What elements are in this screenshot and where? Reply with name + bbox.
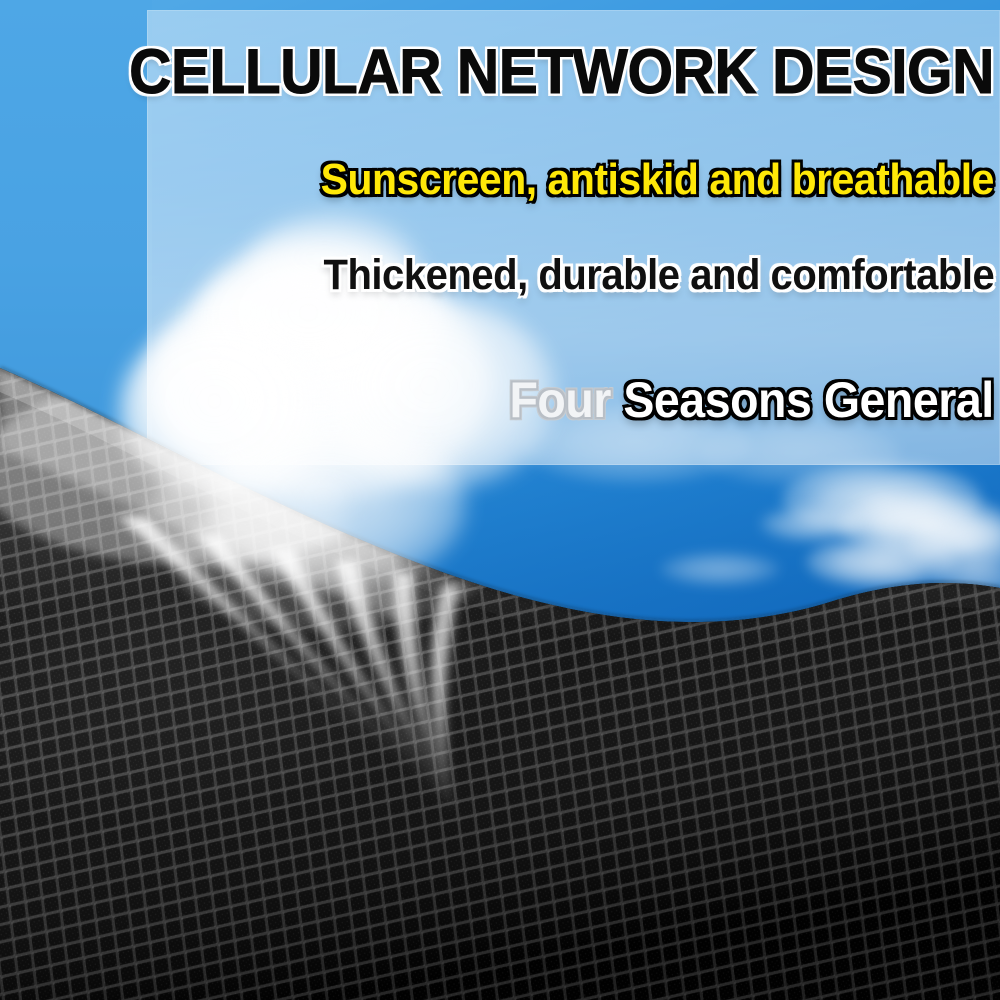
product-banner: CELLULAR NETWORK DESIGN Sunscreen, antis… — [0, 0, 1000, 1000]
subline-thickened-durable-comfortable: Thickened, durable and comfortable — [323, 251, 994, 300]
subline-sunscreen-antiskid-breathable: Sunscreen, antiskid and breathable — [321, 155, 994, 205]
subline-four-seasons-general: Four Seasons General — [510, 371, 994, 429]
subline-four-seasons-rest: Seasons General — [611, 372, 994, 428]
headline: CELLULAR NETWORK DESIGN — [129, 36, 994, 108]
subline-four-seasons-lead: Four — [510, 372, 611, 428]
